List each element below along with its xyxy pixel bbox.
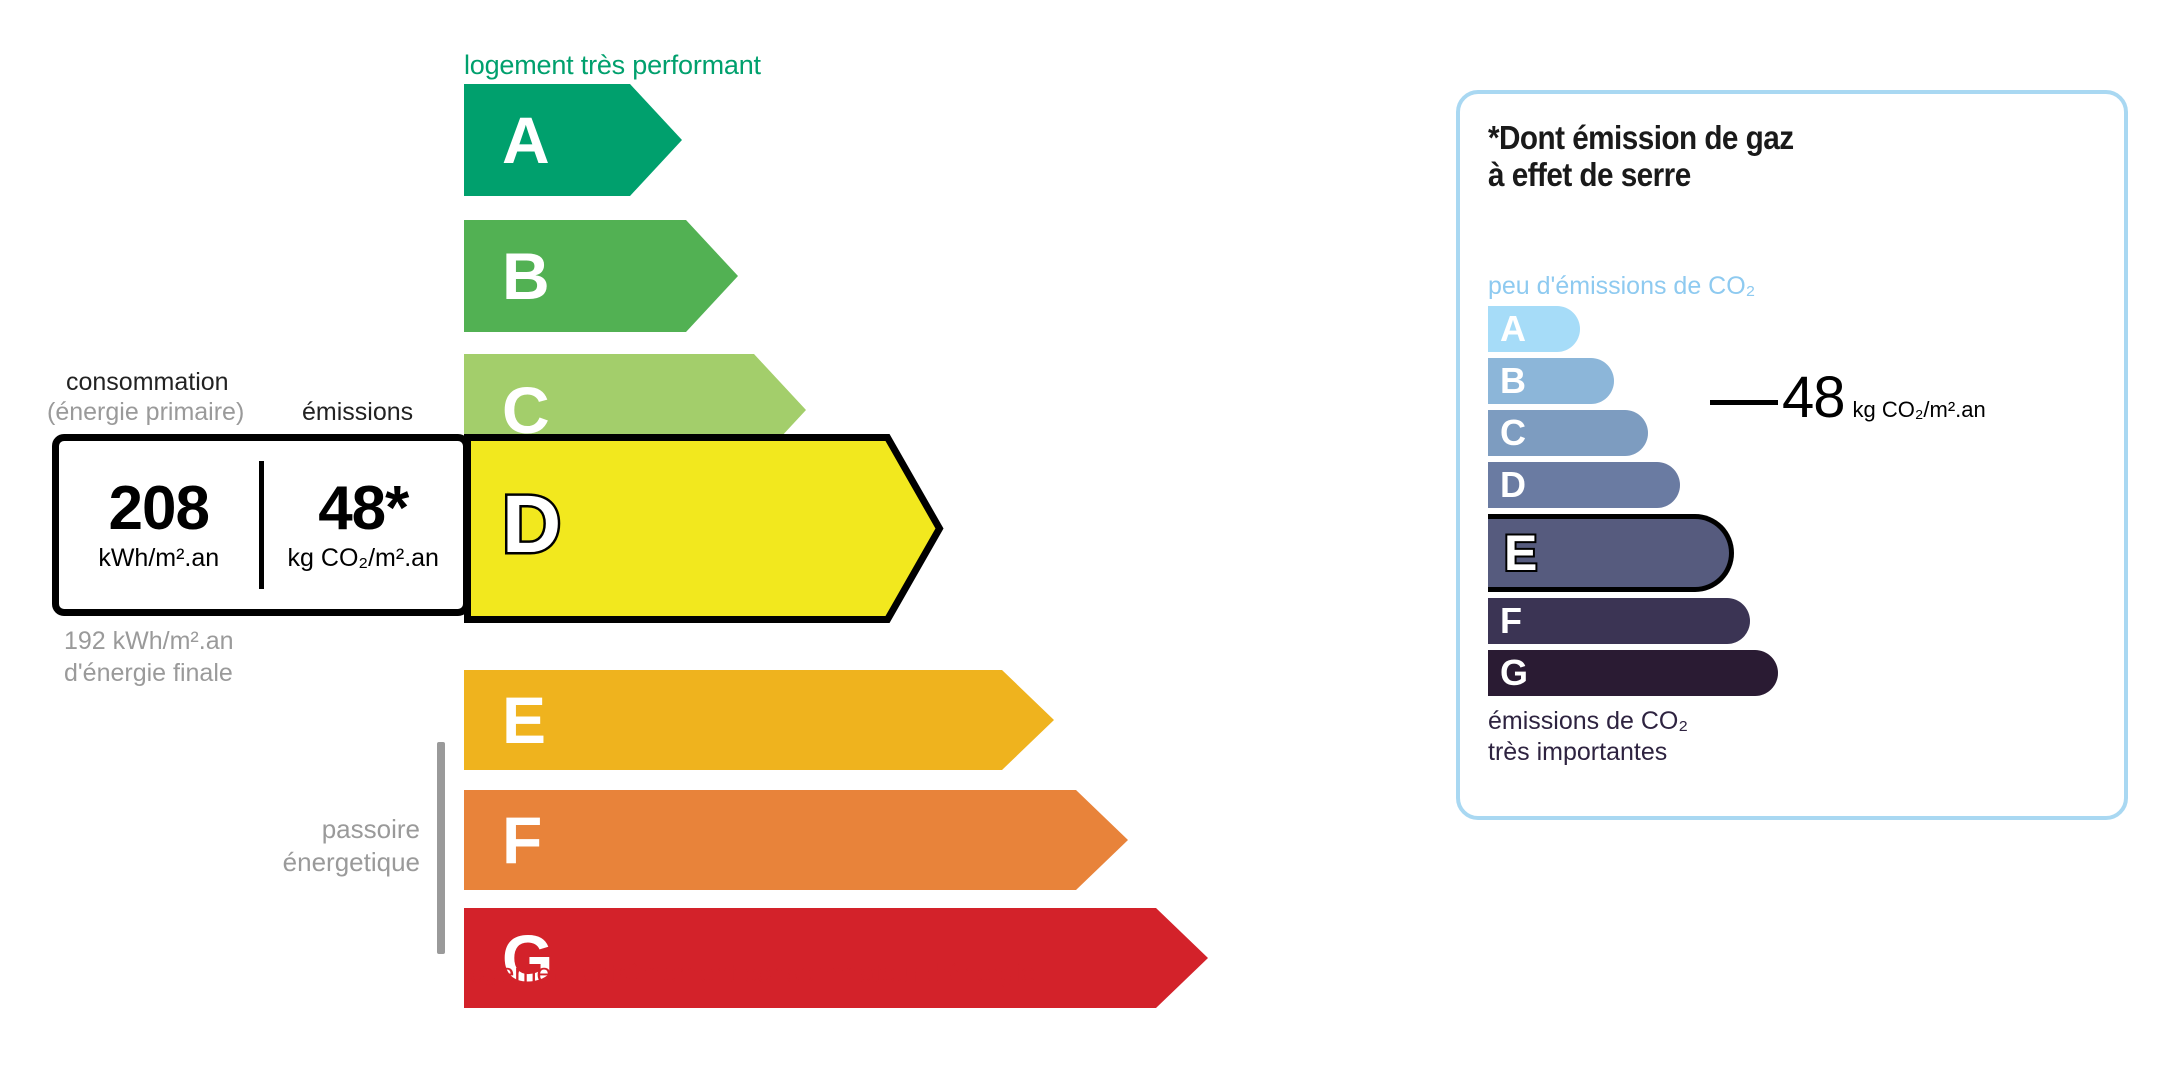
co2-bar-a: A bbox=[1488, 306, 1580, 352]
emissions-label: émissions bbox=[302, 398, 413, 427]
energy-bar-e: E bbox=[464, 670, 1002, 770]
co2-bar-letter-b: B bbox=[1500, 363, 1526, 399]
consumption-number: 208 bbox=[109, 477, 209, 540]
co2-emissions-panel: *Dont émission de gaz à effet de serre p… bbox=[1456, 90, 2128, 820]
energy-bar-letter-a: A bbox=[502, 107, 550, 173]
co2-bar-fill-f bbox=[1488, 598, 1750, 644]
co2-bar-f: F bbox=[1488, 598, 1750, 644]
energy-bottom-caption: logement extrêmement consommateur d'éner… bbox=[464, 958, 1035, 989]
co2-bar-letter-f: F bbox=[1500, 603, 1522, 639]
co2-bar-e: E bbox=[1488, 514, 1734, 592]
emissions-unit: kg CO₂/m².an bbox=[288, 543, 439, 573]
co2-bar-letter-e: E bbox=[1504, 528, 1537, 578]
energy-bar-a: A bbox=[464, 84, 630, 196]
passoire-label: passoire énergetique bbox=[180, 813, 420, 878]
co2-bar-letter-d: D bbox=[1500, 467, 1526, 503]
co2-bar-letter-g: G bbox=[1500, 655, 1528, 691]
energy-bar-f: F bbox=[464, 790, 1076, 890]
dpe-diagram: logement très performant ABCDEFG 208 kWh… bbox=[0, 0, 2169, 1079]
co2-value-unit: kg CO₂/m².an bbox=[1853, 397, 1986, 423]
consumption-value-cell: 208 kWh/m².an bbox=[59, 441, 259, 609]
energy-performance-chart: logement très performant ABCDEFG 208 kWh… bbox=[0, 0, 1400, 1079]
consumption-unit: kWh/m².an bbox=[98, 543, 219, 573]
consumption-label: consommation bbox=[66, 368, 229, 397]
co2-value-number: 48 bbox=[1782, 364, 1845, 431]
co2-bar-b: B bbox=[1488, 358, 1614, 404]
energy-value-box: 208 kWh/m².an 48* kg CO₂/m².an bbox=[52, 434, 470, 616]
co2-bar-c: C bbox=[1488, 410, 1648, 456]
energy-bar-letter-e: E bbox=[502, 687, 546, 753]
co2-bar-fill-g bbox=[1488, 650, 1778, 696]
co2-top-caption: peu d'émissions de CO₂ bbox=[1488, 272, 1755, 301]
emissions-value-cell: 48* kg CO₂/m².an bbox=[264, 441, 464, 609]
energy-bar-letter-b: B bbox=[502, 243, 550, 309]
passoire-marker-bar bbox=[437, 742, 445, 954]
co2-bar-letter-c: C bbox=[1500, 415, 1526, 451]
co2-panel-title: *Dont émission de gaz à effet de serre bbox=[1488, 120, 1794, 194]
energy-bar-letter-d: D bbox=[502, 484, 561, 566]
energy-bar-b: B bbox=[464, 220, 686, 332]
energy-bar-d: D bbox=[464, 434, 884, 616]
co2-value-annotation: 48 kg CO₂/m².an bbox=[1782, 364, 1986, 431]
consumption-sublabel: (énergie primaire) bbox=[47, 398, 244, 427]
energy-bar-letter-f: F bbox=[502, 807, 542, 873]
co2-bottom-caption: émissions de CO₂ très importantes bbox=[1488, 706, 1688, 769]
co2-bar-letter-a: A bbox=[1500, 311, 1526, 347]
co2-bar-d: D bbox=[1488, 462, 1680, 508]
co2-bar-g: G bbox=[1488, 650, 1778, 696]
emissions-number: 48* bbox=[318, 477, 408, 540]
final-energy-note: 192 kWh/m².an d'énergie finale bbox=[64, 625, 234, 689]
co2-leader-line bbox=[1710, 400, 1778, 405]
